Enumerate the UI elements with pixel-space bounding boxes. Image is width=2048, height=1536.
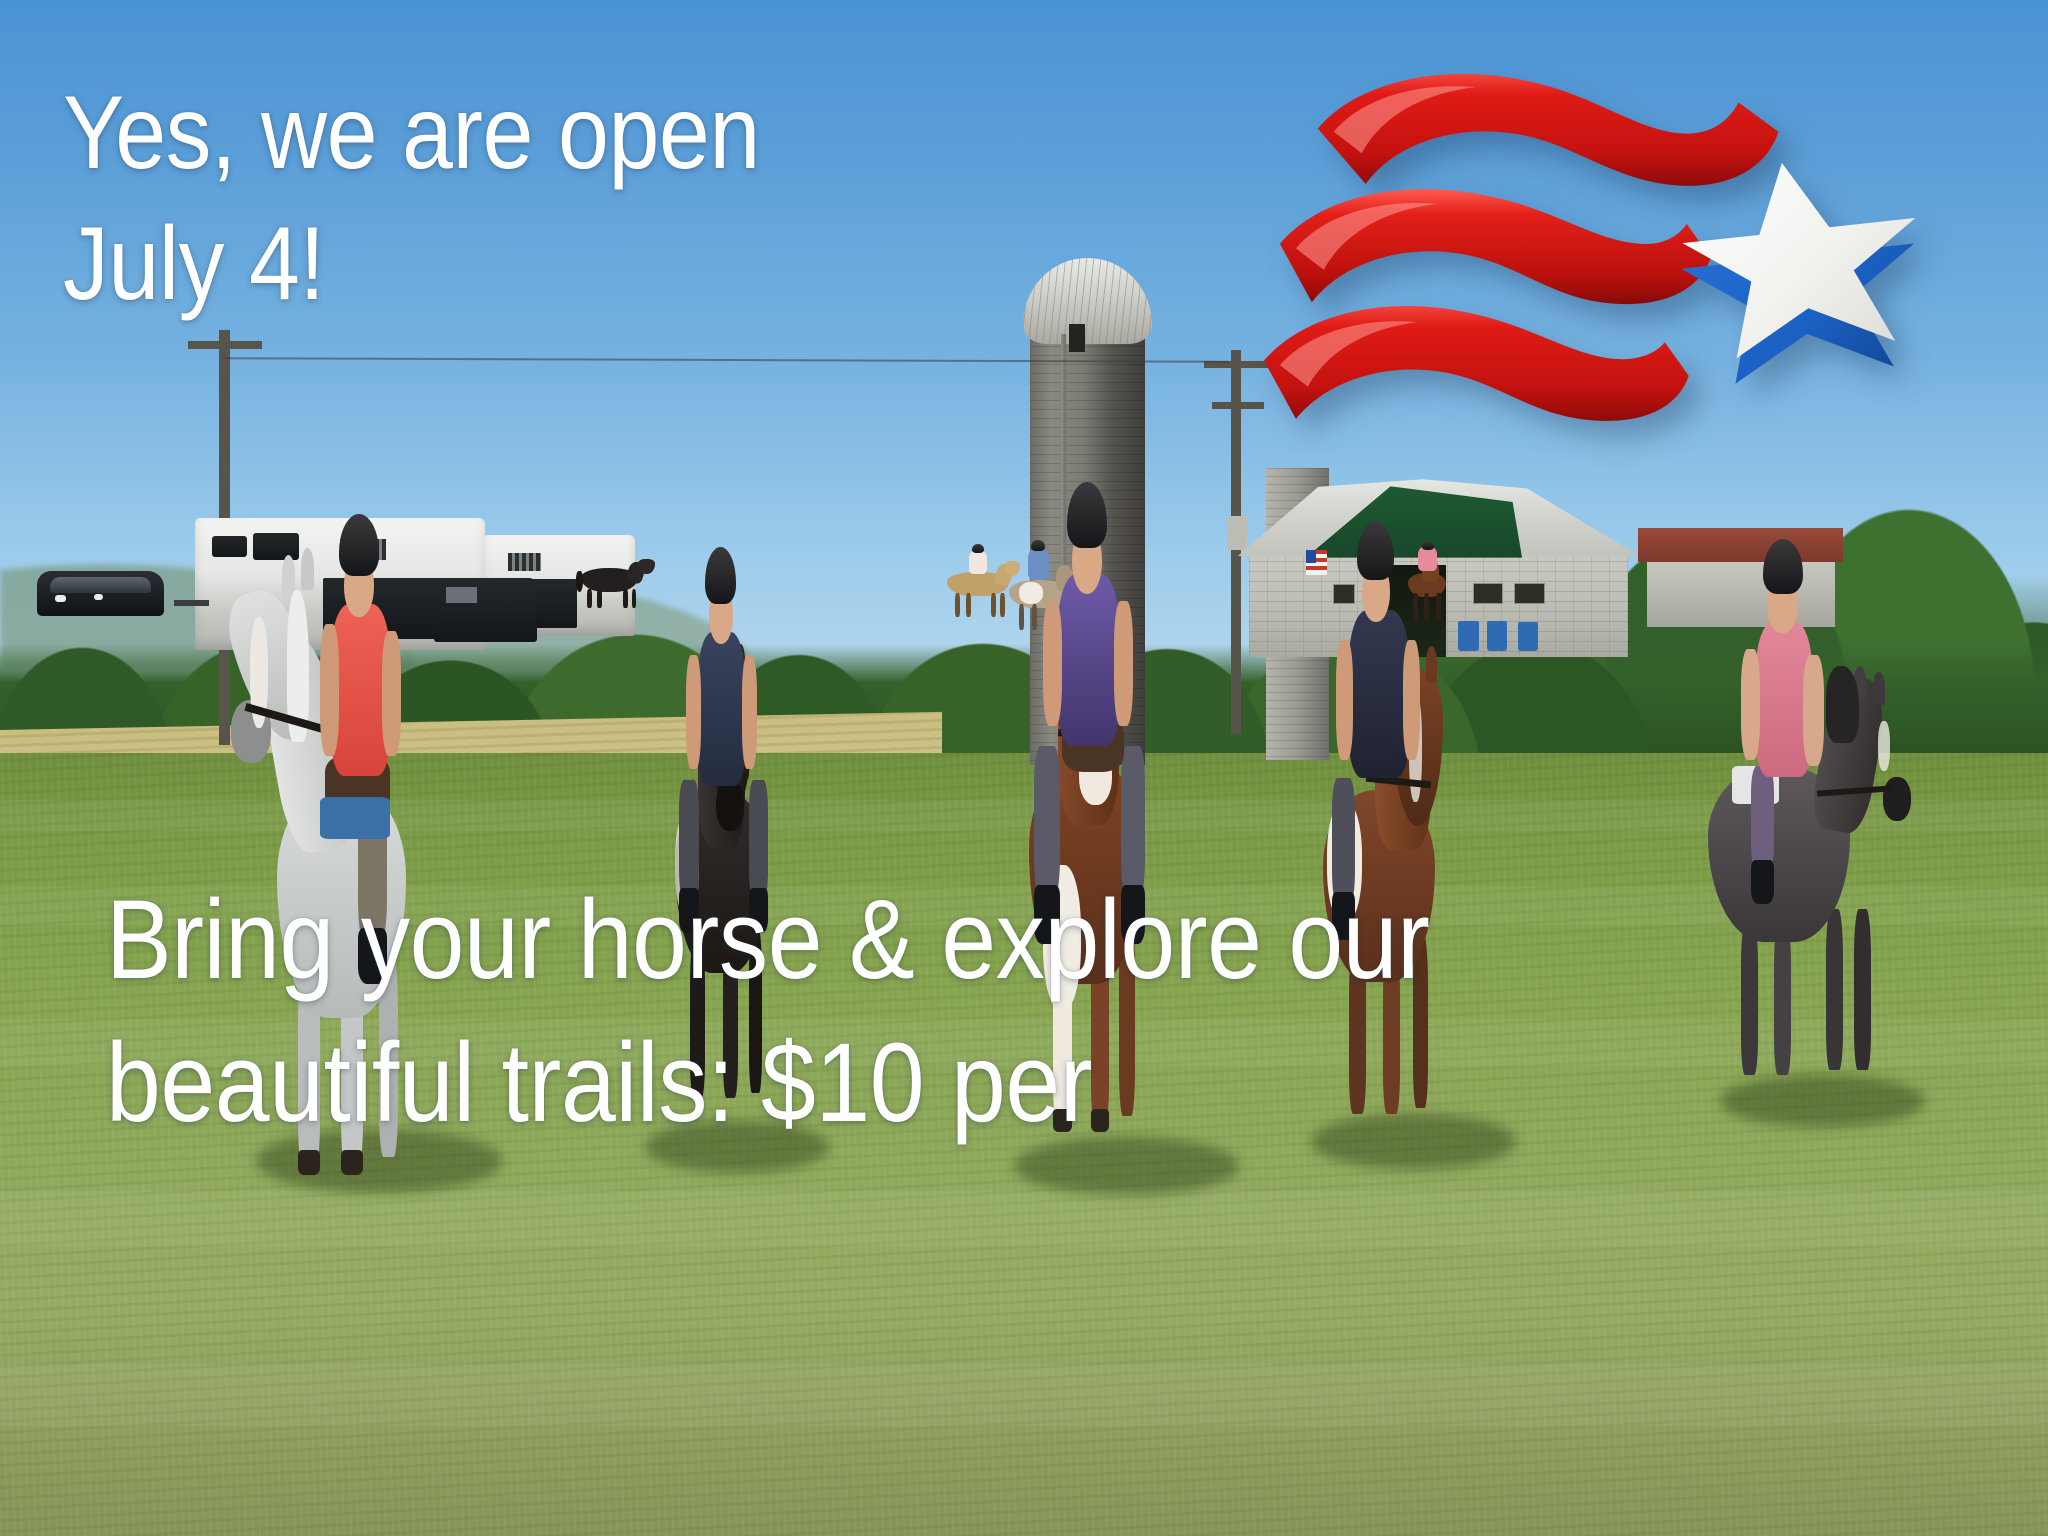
barn-window	[1514, 583, 1544, 604]
stripe-3	[1264, 306, 1689, 421]
tagline-text: Bring your horse & explore our beautiful…	[106, 869, 1430, 1153]
patriotic-stars-and-stripes-graphic	[1260, 38, 2018, 530]
parked-suv	[37, 571, 164, 616]
riding-helmet	[1763, 539, 1803, 594]
silo-dome-roof	[1023, 258, 1151, 344]
headline-line-1: Yes, we are open	[63, 68, 760, 199]
rider-torso-purple	[1058, 574, 1119, 746]
tagline-line-1: Bring your horse & explore our	[106, 869, 1430, 1011]
rider-torso-navy	[1349, 610, 1409, 778]
crossarm-left	[188, 341, 262, 349]
headline-line-2: July 4!	[63, 199, 760, 330]
headline-text: Yes, we are open July 4!	[63, 68, 760, 330]
pole-box-center	[1227, 516, 1247, 550]
riding-helmet	[1067, 482, 1107, 548]
stripe-1	[1317, 74, 1778, 186]
poster-canvas: Yes, we are open July 4! Bring your hors…	[0, 0, 2048, 1536]
riding-helmet	[339, 514, 380, 576]
tagline-line-2: beautiful trails: $10 per	[106, 1012, 1430, 1154]
silo-hatch	[1069, 324, 1085, 352]
stripe-2	[1279, 189, 1710, 304]
blue-barrel	[1518, 622, 1538, 651]
riding-helmet	[705, 547, 736, 604]
crossarm-center-2	[1212, 402, 1263, 408]
rider-group-right	[1690, 522, 1926, 1075]
